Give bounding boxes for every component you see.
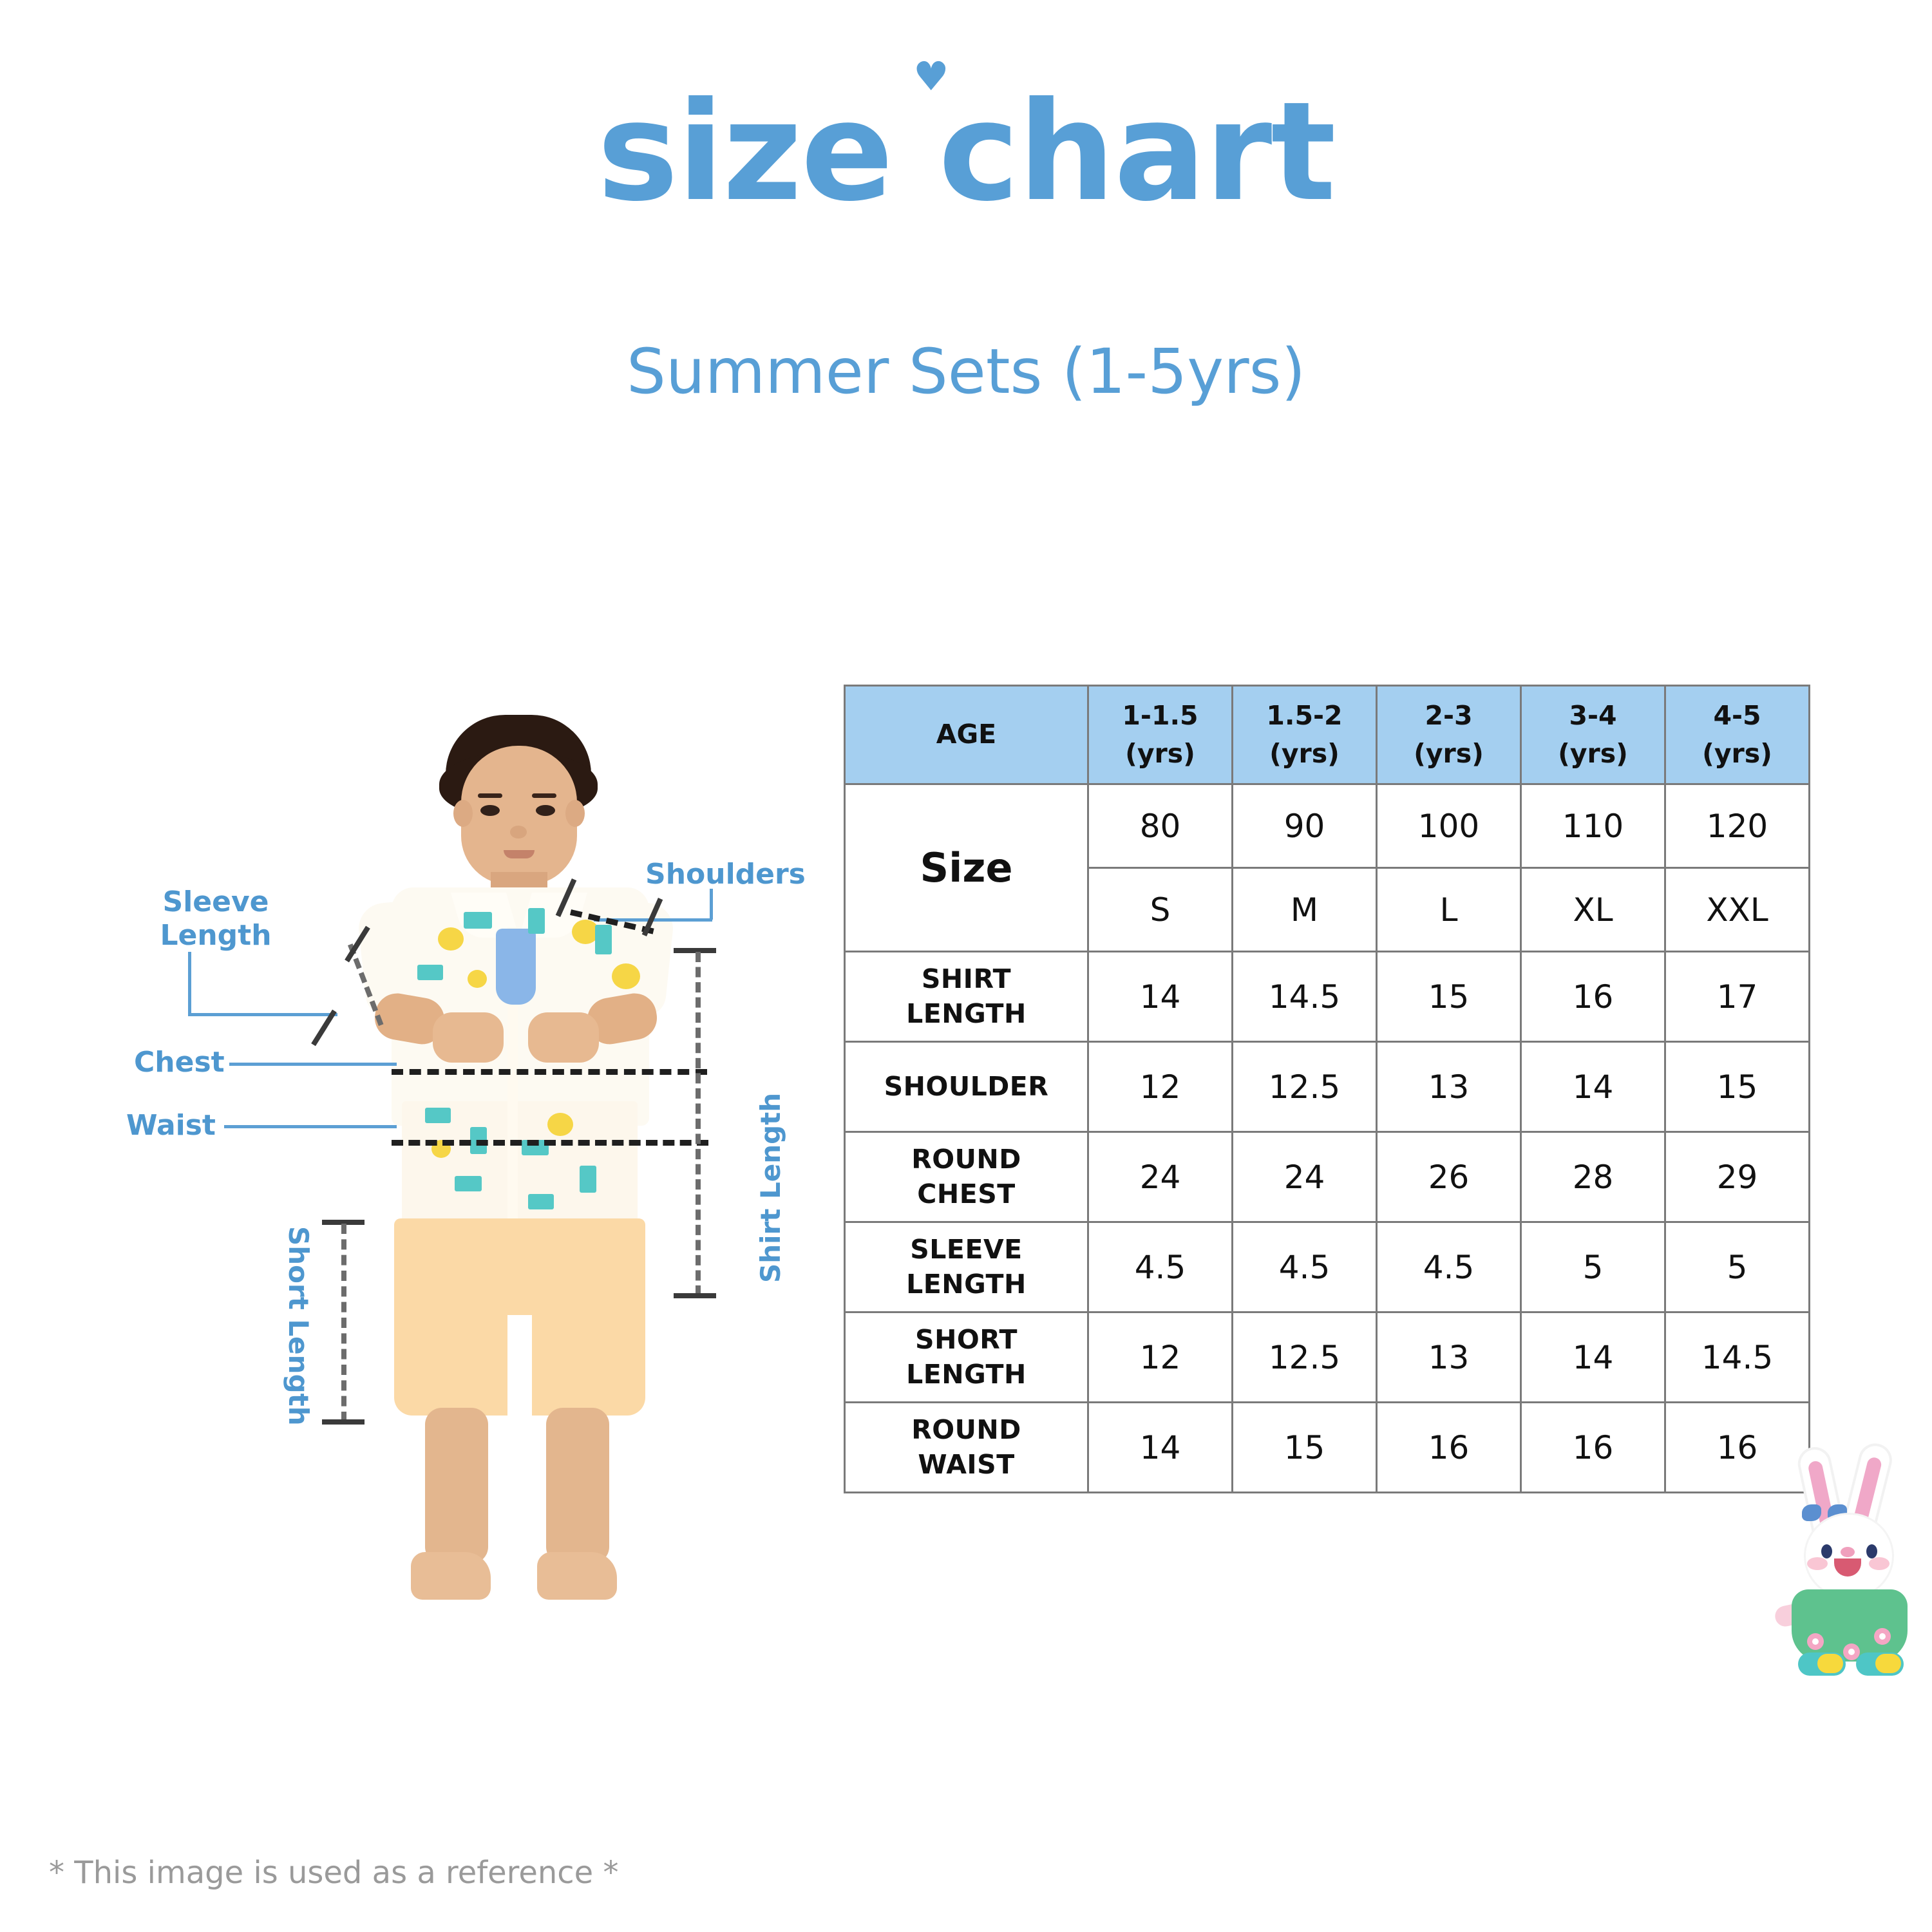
row-label-shirt-length: SHIRT LENGTH xyxy=(845,952,1088,1042)
cell-value: 16 xyxy=(1521,952,1665,1042)
cell-value: 14.5 xyxy=(1665,1312,1810,1403)
face xyxy=(461,746,577,885)
bunny-eye-left xyxy=(1821,1544,1832,1558)
cell-size-letter: L xyxy=(1377,868,1521,952)
cell-value: 29 xyxy=(1665,1132,1810,1222)
cell-size-num: 90 xyxy=(1233,784,1377,868)
nose xyxy=(510,826,527,838)
cell-size-num: 110 xyxy=(1521,784,1665,868)
age-range: 4-5 xyxy=(1666,697,1808,735)
leader-sleeve-horizontal xyxy=(188,1013,337,1016)
measure-waist-dashed xyxy=(392,1140,708,1146)
bunny-eye-right xyxy=(1866,1544,1877,1558)
print-dot xyxy=(612,963,640,989)
bunny-shoe-right xyxy=(1856,1653,1904,1676)
cell-value: 12 xyxy=(1088,1312,1233,1403)
bib-patch xyxy=(496,929,536,1005)
cell-value: 15 xyxy=(1233,1403,1377,1493)
table-row: SHORT LENGTH 12 12.5 13 14 14.5 xyxy=(845,1312,1810,1403)
cell-size-letter: S xyxy=(1088,868,1233,952)
print-dot xyxy=(438,927,464,951)
row-label-round-waist: ROUND WAIST xyxy=(845,1403,1088,1493)
age-unit: (yrs) xyxy=(1666,735,1808,773)
header-age-3: 2-3 (yrs) xyxy=(1377,686,1521,784)
print-glyph xyxy=(528,1194,554,1209)
cell-size-letter: XXL xyxy=(1665,868,1810,952)
cell-value: 16 xyxy=(1377,1403,1521,1493)
bow-left xyxy=(1802,1504,1821,1521)
cell-size-letter: M xyxy=(1233,868,1377,952)
ear-right xyxy=(565,800,585,827)
cell-value: 12.5 xyxy=(1233,1312,1377,1403)
table-row: ROUND CHEST 24 24 26 28 29 xyxy=(845,1132,1810,1222)
age-unit: (yrs) xyxy=(1233,735,1376,773)
measure-short-dashed xyxy=(341,1224,346,1422)
label-chest: Chest xyxy=(134,1046,225,1079)
page-title: size chart ♥ xyxy=(0,84,1932,220)
page-subtitle: Summer Sets (1-5yrs) xyxy=(0,335,1932,409)
cell-value: 5 xyxy=(1665,1222,1810,1312)
label-sleeve-length: Sleeve Length xyxy=(135,885,296,952)
age-range: 1.5-2 xyxy=(1233,697,1376,735)
cell-value: 5 xyxy=(1521,1222,1665,1312)
cell-value: 17 xyxy=(1665,952,1810,1042)
leg-left xyxy=(425,1408,488,1564)
foot-left xyxy=(411,1552,491,1600)
measure-chest-dashed xyxy=(392,1069,707,1075)
cell-value: 12.5 xyxy=(1233,1042,1377,1132)
table-row: SLEEVE LENGTH 4.5 4.5 4.5 5 5 xyxy=(845,1222,1810,1312)
tick-shirt-top xyxy=(674,948,716,953)
cell-value: 15 xyxy=(1665,1042,1810,1132)
heart-icon: ♥ xyxy=(913,57,944,85)
cell-value: 14 xyxy=(1521,1312,1665,1403)
table-row: SHOULDER 12 12.5 13 14 15 xyxy=(845,1042,1810,1132)
cell-value: 14 xyxy=(1088,1403,1233,1493)
label-waist: Waist xyxy=(126,1109,216,1142)
mouth xyxy=(504,850,535,858)
cell-value: 4.5 xyxy=(1377,1222,1521,1312)
cell-value: 14 xyxy=(1521,1042,1665,1132)
tick-short-bottom xyxy=(322,1419,365,1425)
cell-value: 15 xyxy=(1377,952,1521,1042)
eye-left xyxy=(480,805,500,816)
table-row: Size 80 90 100 110 120 xyxy=(845,784,1810,868)
bunny-shoe-left xyxy=(1798,1653,1846,1676)
ear-left xyxy=(453,800,473,827)
bunny-nose xyxy=(1841,1547,1855,1557)
cell-value: 4.5 xyxy=(1088,1222,1233,1312)
reference-photo xyxy=(335,715,696,1623)
header-age-1: 1-1.5 (yrs) xyxy=(1088,686,1233,784)
cell-value: 13 xyxy=(1377,1312,1521,1403)
row-label-short-length: SHORT LENGTH xyxy=(845,1312,1088,1403)
cell-size-num: 120 xyxy=(1665,784,1810,868)
cell-value: 24 xyxy=(1233,1132,1377,1222)
leader-waist xyxy=(224,1125,397,1128)
print-glyph xyxy=(455,1176,482,1191)
table-header-row: AGE 1-1.5 (yrs) 1.5-2 (yrs) 2-3 (yrs) 3-… xyxy=(845,686,1810,784)
print-glyph xyxy=(595,925,612,954)
leader-chest xyxy=(229,1063,397,1066)
age-range: 2-3 xyxy=(1378,697,1520,735)
foot-right xyxy=(537,1552,617,1600)
cell-size-num: 100 xyxy=(1377,784,1521,868)
cell-value: 28 xyxy=(1521,1132,1665,1222)
header-age: AGE xyxy=(845,686,1088,784)
shoe-accent xyxy=(1817,1654,1843,1673)
hand-left xyxy=(433,1012,504,1063)
age-range: 1-1.5 xyxy=(1089,697,1231,735)
shorts xyxy=(394,1218,645,1416)
age-unit: (yrs) xyxy=(1522,735,1664,773)
cell-size-num: 80 xyxy=(1088,784,1233,868)
row-label-shoulder: SHOULDER xyxy=(845,1042,1088,1132)
print-glyph xyxy=(417,965,443,980)
row-label-round-chest: ROUND CHEST xyxy=(845,1132,1088,1222)
print-glyph xyxy=(528,908,545,934)
cell-value: 16 xyxy=(1521,1403,1665,1493)
leader-sleeve-vertical xyxy=(188,952,191,1016)
measure-shirt-dashed xyxy=(696,952,701,1296)
tick-shirt-bottom xyxy=(674,1293,716,1298)
label-short-length: Short Length xyxy=(283,1226,314,1426)
header-age-4: 3-4 (yrs) xyxy=(1521,686,1665,784)
row-label-sleeve-length: SLEEVE LENGTH xyxy=(845,1222,1088,1312)
cell-value: 24 xyxy=(1088,1132,1233,1222)
reference-note: * This image is used as a reference * xyxy=(49,1855,618,1891)
age-unit: (yrs) xyxy=(1089,735,1231,773)
shoe-accent xyxy=(1875,1654,1901,1673)
bunny-cheek-left xyxy=(1807,1557,1828,1570)
size-chart-page: size chart ♥ Summer Sets (1-5yrs) xyxy=(0,0,1932,1932)
age-unit: (yrs) xyxy=(1378,735,1520,773)
header-age-2: 1.5-2 (yrs) xyxy=(1233,686,1377,784)
header-age-5: 4-5 (yrs) xyxy=(1665,686,1810,784)
eyebrow-left xyxy=(478,793,502,798)
bunny-mascot-icon xyxy=(1784,1443,1932,1668)
cell-value: 13 xyxy=(1377,1042,1521,1132)
print-glyph xyxy=(580,1166,596,1193)
table-row: ROUND WAIST 14 15 16 16 16 xyxy=(845,1403,1810,1493)
print-dot xyxy=(468,970,487,988)
label-shirt-length: Shirt Length xyxy=(755,1093,786,1283)
boy-illustration xyxy=(335,715,696,1623)
eyebrow-right xyxy=(532,793,556,798)
row-label-size: Size xyxy=(845,784,1088,952)
bunny-dress-flower xyxy=(1874,1628,1891,1645)
leg-right xyxy=(546,1408,609,1564)
eye-right xyxy=(536,805,555,816)
hand-right xyxy=(528,1012,599,1063)
cell-value: 14.5 xyxy=(1233,952,1377,1042)
size-chart-table: AGE 1-1.5 (yrs) 1.5-2 (yrs) 2-3 (yrs) 3-… xyxy=(844,685,1810,1493)
print-dot xyxy=(547,1113,573,1136)
print-glyph xyxy=(425,1108,451,1123)
bunny-dress-flower xyxy=(1807,1633,1824,1650)
print-glyph xyxy=(464,912,492,929)
cell-size-letter: XL xyxy=(1521,868,1665,952)
cell-value: 4.5 xyxy=(1233,1222,1377,1312)
age-range: 3-4 xyxy=(1522,697,1664,735)
bunny-cheek-right xyxy=(1869,1557,1889,1570)
page-title-text: size chart xyxy=(597,72,1334,231)
cell-value: 14 xyxy=(1088,952,1233,1042)
leader-shoulders-vertical xyxy=(710,889,713,920)
label-shoulders: Shoulders xyxy=(645,858,806,891)
table-row: SHIRT LENGTH 14 14.5 15 16 17 xyxy=(845,952,1810,1042)
cell-value: 26 xyxy=(1377,1132,1521,1222)
cell-value: 12 xyxy=(1088,1042,1233,1132)
